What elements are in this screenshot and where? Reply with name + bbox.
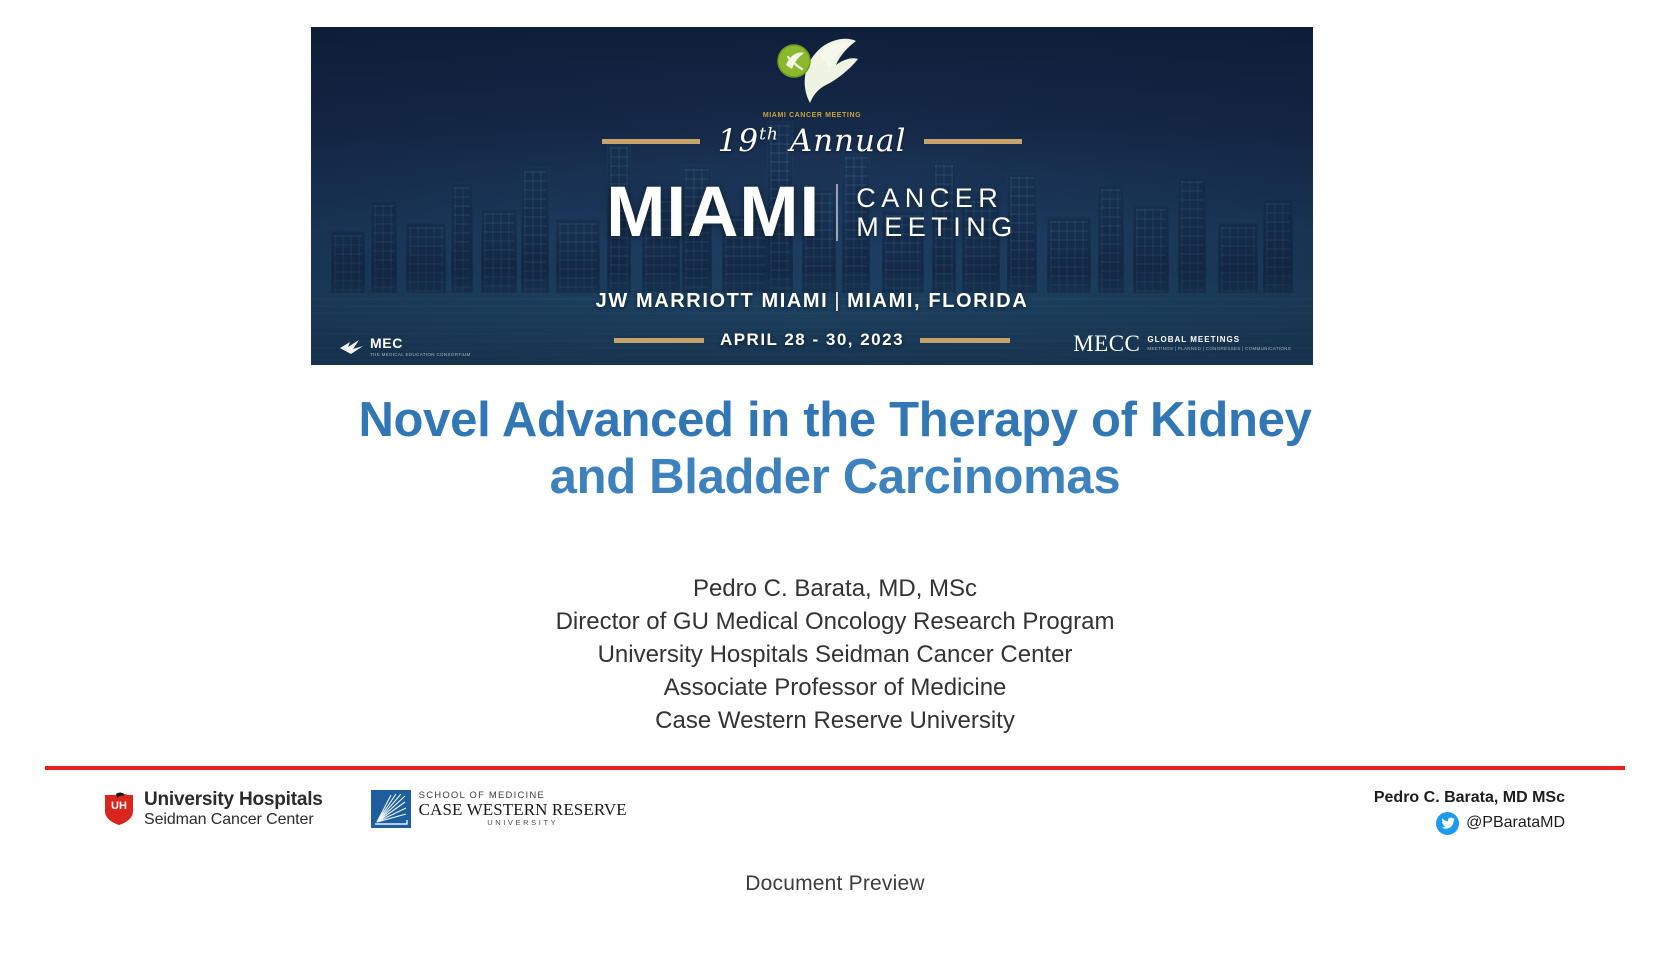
conference-banner: MIAMI CANCER MEETING 19th Annual MIAMI C… <box>311 27 1313 365</box>
conference-dates: APRIL 28 - 30, 2023 <box>720 330 904 350</box>
conference-title-cancer: CANCER <box>856 184 1018 212</box>
university-hospitals-shield-icon: UH <box>103 792 135 826</box>
mecc-logo-word: MECC <box>1073 333 1140 355</box>
mecc-logo-global: GLOBAL MEETINGS <box>1147 336 1291 344</box>
mec-logo: MEC THE MEDICAL EDUCATION CONSORTIUM <box>339 336 471 357</box>
slide-title-line-2: and Bladder Carcinomas <box>165 449 1505 506</box>
cwru-university-label: UNIVERSITY <box>419 819 627 827</box>
conference-venue-line: JW MARRIOTT MIAMI|MIAMI, FLORIDA <box>311 290 1313 313</box>
edition-rule-left <box>602 139 700 144</box>
footer-logos: UH University Hospitals Seidman Cancer C… <box>103 790 627 828</box>
svg-text:UH: UH <box>111 800 127 812</box>
university-hospitals-subtitle: Seidman Cancer Center <box>144 811 323 829</box>
miami-cancer-meeting-leaf-logo: MIAMI CANCER MEETING <box>747 35 877 119</box>
presentation-slide: MIAMI CANCER MEETING 19th Annual MIAMI C… <box>45 0 1625 905</box>
document-preview-caption: Document Preview <box>0 872 1670 896</box>
slide-footer: UH University Hospitals Seidman Cancer C… <box>45 776 1625 846</box>
edition-ordinal: th <box>759 125 779 145</box>
venue-location: MIAMI, FLORIDA <box>847 290 1028 312</box>
edition-label: 19th Annual <box>718 123 907 159</box>
document-preview-viewport: MIAMI CANCER MEETING 19th Annual MIAMI C… <box>0 0 1670 930</box>
presenter-academic-title: Associate Professor of Medicine <box>45 671 1625 704</box>
presenter-name: Pedro C. Barata, MD, MSc <box>45 572 1625 605</box>
twitter-handle[interactable]: @PBarataMD <box>1466 814 1565 832</box>
presenter-role: Director of GU Medical Oncology Research… <box>45 605 1625 638</box>
twitter-bird-icon[interactable] <box>1436 812 1459 835</box>
presenter-institution: University Hospitals Seidman Cancer Cent… <box>45 638 1625 671</box>
footer-presenter-contact: Pedro C. Barata, MD MSc @PBarataMD <box>1374 788 1565 835</box>
miami-cancer-meeting-logo-caption: MIAMI CANCER MEETING <box>747 112 877 119</box>
slide-title-line-1: Novel Advanced in the Therapy of Kidney <box>165 392 1505 449</box>
venue-name: JW MARRIOTT MIAMI <box>596 290 829 312</box>
mecc-logo: MECC GLOBAL MEETINGS MEETINGS | PLANNED … <box>1073 333 1291 355</box>
edition-row: 19th Annual <box>311 123 1313 159</box>
mec-logo-subtitle: THE MEDICAL EDUCATION CONSORTIUM <box>370 352 471 357</box>
university-hospitals-name: University Hospitals <box>144 790 323 811</box>
footer-presenter-name: Pedro C. Barata, MD MSc <box>1374 788 1565 809</box>
presenter-block: Pedro C. Barata, MD, MSc Director of GU … <box>45 572 1625 738</box>
mec-logo-word: MEC <box>370 336 471 350</box>
slide-title: Novel Advanced in the Therapy of Kidney … <box>165 392 1505 507</box>
mecc-logo-subtitle: MEETINGS | PLANNED | CONGRESSES | COMMUN… <box>1147 346 1291 351</box>
edition-annual-word: Annual <box>790 123 907 159</box>
conference-title-cancer-meeting: CANCER MEETING <box>836 184 1018 241</box>
presenter-university: Case Western Reserve University <box>45 704 1625 737</box>
university-hospitals-logo: UH University Hospitals Seidman Cancer C… <box>103 790 323 828</box>
mec-arrow-icon <box>339 338 365 356</box>
twitter-handle-row[interactable]: @PBarataMD <box>1374 812 1565 835</box>
edition-rule-right <box>924 139 1022 144</box>
date-rule-right <box>920 338 1010 343</box>
conference-title-miami: MIAMI <box>606 177 820 248</box>
edition-number: 19 <box>718 123 759 159</box>
conference-title-lockup: MIAMI CANCER MEETING <box>311 177 1313 248</box>
date-rule-left <box>614 338 704 343</box>
footer-divider <box>45 766 1625 770</box>
cwru-name: CASE WESTERN RESERVE <box>419 801 627 819</box>
conference-title-meeting: MEETING <box>856 213 1018 241</box>
case-western-reserve-burst-icon <box>371 790 411 828</box>
venue-separator: | <box>828 290 847 312</box>
case-western-reserve-logo: SCHOOL OF MEDICINE CASE WESTERN RESERVE … <box>371 790 627 828</box>
